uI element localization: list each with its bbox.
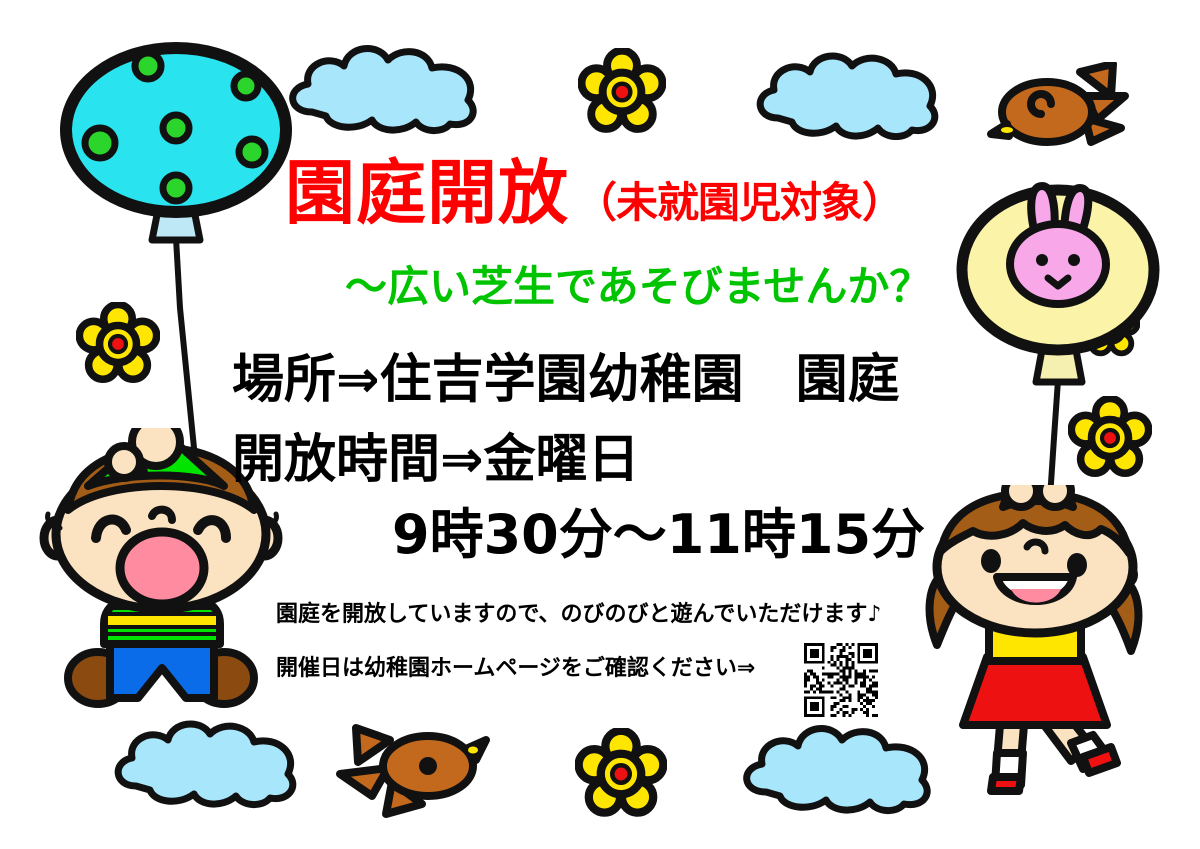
note-open-playground: 園庭を開放していますので、のびのびと遊んでいただけます♪ xyxy=(276,604,881,626)
cloud-bottom-right xyxy=(736,720,946,815)
balloon-yellow-rabbit xyxy=(950,168,1170,518)
girl-character xyxy=(925,485,1160,795)
headline-qualifier: （未就園児対象） xyxy=(575,182,903,224)
subtitle: 〜広い芝生であそびませんか？ xyxy=(345,266,931,308)
flower-top-center xyxy=(578,48,666,136)
balloon-cyan-polkadot xyxy=(48,28,298,488)
bird-bottom-center xyxy=(330,718,505,823)
headline-row: 園庭開放 （未就園児対象） xyxy=(285,158,903,228)
poster-canvas: 園庭開放 （未就園児対象） 〜広い芝生であそびませんか？ 場所⇒住吉学園幼稚園 … xyxy=(0,0,1200,849)
qr-code[interactable] xyxy=(804,643,878,717)
detail-time: 9時30分〜11時15分 xyxy=(392,508,925,562)
detail-location: 場所⇒住吉学園幼稚園 園庭 xyxy=(232,354,900,406)
detail-day: 開放時間⇒金曜日 xyxy=(232,434,640,486)
cloud-bottom-left xyxy=(108,714,308,809)
bird-top-right xyxy=(985,62,1130,170)
cloud-top-right xyxy=(750,48,950,140)
note-check-homepage: 開催日は幼稚園ホームページをご確認ください⇒ xyxy=(276,658,755,680)
flower-bottom-center xyxy=(575,728,667,820)
cloud-top-left xyxy=(282,40,492,135)
headline-main: 園庭開放 xyxy=(285,158,569,228)
